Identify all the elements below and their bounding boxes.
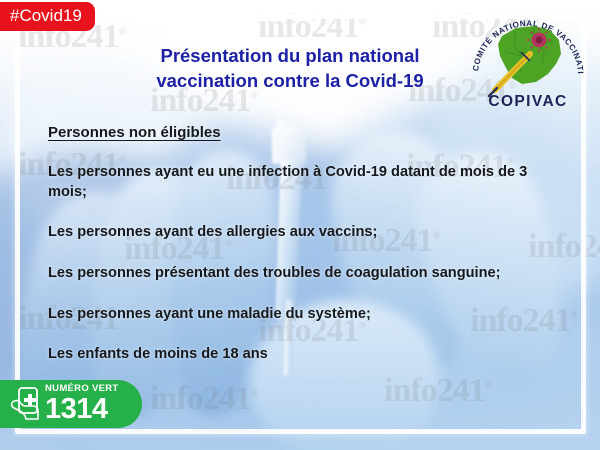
hotline-number: 1314: [45, 395, 119, 424]
page-title-line1: Présentation du plan national: [120, 44, 460, 69]
list-item: Les personnes ayant eu une infection à C…: [48, 163, 570, 202]
content-block: Personnes non éligibles Les personnes ay…: [48, 124, 570, 365]
page-title-line2: vaccination contre la Covid-19: [120, 69, 460, 94]
svg-text:COPIVAC: COPIVAC: [488, 93, 567, 110]
page-title: Présentation du plan national vaccinatio…: [120, 44, 460, 94]
section-heading: Personnes non éligibles: [48, 124, 570, 141]
covid19-tag: #Covid19: [0, 2, 95, 31]
hotline-badge: NUMÉRO VERT 1314: [0, 380, 142, 428]
list-item: Les personnes ayant des allergies aux va…: [48, 223, 570, 243]
hotline-text: NUMÉRO VERT 1314: [45, 384, 119, 424]
list-item: Les enfants de moins de 18 ans: [48, 345, 570, 365]
list-item: Les personnes ayant une maladie du systè…: [48, 305, 570, 325]
list-item: Les personnes présentant des troubles de…: [48, 264, 570, 284]
non-eligible-list: Les personnes ayant eu une infection à C…: [48, 163, 570, 365]
copivac-logo: COMITÉ NATIONAL DE VACCINATION COVID-19: [464, 2, 592, 114]
slide-canvas: info241®info241®info241®info241®info241®…: [0, 0, 600, 450]
hand-holding-phone-icon: [8, 385, 42, 423]
